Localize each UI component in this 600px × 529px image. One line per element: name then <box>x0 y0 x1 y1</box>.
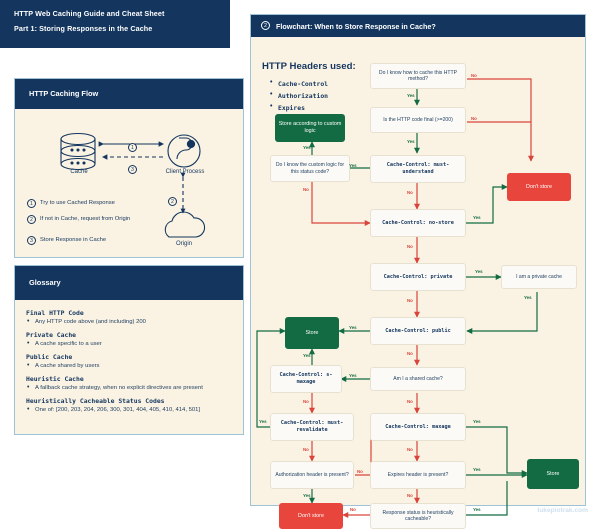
node-am-i-private-cache[interactable]: I am a private cache <box>501 265 577 289</box>
http-caching-flow-card: HTTP Caching Flow <box>14 78 244 258</box>
caching-flow-diagram: Cache Client Process Origin 1 3 2 1 Try … <box>15 109 243 257</box>
edge-label-yes: Yes <box>259 419 267 424</box>
glossary-def: Any HTTP code above (and including) 200 <box>26 319 232 325</box>
glossary-term: Heuristic Cache <box>26 375 232 383</box>
node-public-directive[interactable]: Cache-Control: public <box>370 317 466 345</box>
edge-label-yes: Yes <box>475 269 483 274</box>
glossary-header: Glossary <box>15 266 243 300</box>
edge-label-no: No <box>407 493 413 498</box>
node-must-understand[interactable]: Cache-Control: must-understand <box>370 155 466 183</box>
flowchart-heading: Flowchart: When to Store Response in Cac… <box>276 22 436 31</box>
edge-label-no: No <box>407 190 413 195</box>
legend-num-2: 2 <box>27 215 36 224</box>
node-authorization-header[interactable]: Authorization header is present? <box>270 461 354 489</box>
flow-marker-1: 1 <box>128 136 137 154</box>
edge-label-yes: Yes <box>303 145 311 150</box>
edge-label-yes: Yes <box>473 467 481 472</box>
flowchart-body: HTTP Headers used: Cache-Control Authori… <box>251 37 585 505</box>
node-dont-store-bottom[interactable]: Don't store <box>279 503 343 529</box>
edge-label-yes: Yes <box>473 507 481 512</box>
node-must-revalidate[interactable]: Cache-Control: must-revalidate <box>270 413 354 441</box>
edge-label-yes: Yes <box>349 325 357 330</box>
glossary-heading: Glossary <box>29 278 61 287</box>
glossary-card: Glossary Final HTTP Code Any HTTP code a… <box>14 265 244 435</box>
glossary-def: A cache shared by users <box>26 363 232 369</box>
title-line-1: HTTP Web Caching Guide and Cheat Sheet <box>14 9 165 18</box>
edge-label-no: No <box>407 447 413 452</box>
edge-label-no: No <box>407 399 413 404</box>
edge-label-no: No <box>407 244 413 249</box>
edge-label-yes: Yes <box>349 163 357 168</box>
edge-label-no: No <box>350 507 356 512</box>
glossary-term: Heuristically Cacheable Status Codes <box>26 397 232 405</box>
glossary-term: Final HTTP Code <box>26 309 232 317</box>
client-process-icon <box>168 135 200 167</box>
legend-num-1: 1 <box>27 199 36 208</box>
glossary-body: Final HTTP Code Any HTTP code above (and… <box>15 300 243 419</box>
site-credit: lukepiotrak.com <box>537 507 588 514</box>
caching-flow-header: HTTP Caching Flow <box>15 79 243 109</box>
cheatsheet-page: HTTP Web Caching Guide and Cheat Sheet P… <box>0 0 600 520</box>
node-expires-header[interactable]: Expires header is present? <box>370 461 466 489</box>
legend-text-1: Try to use Cached Response <box>40 200 170 207</box>
edge-label-no: No <box>303 187 309 192</box>
title-line-2: Part 1: Storing Responses in the Cache <box>14 24 152 33</box>
node-store-main[interactable]: Store <box>285 317 339 349</box>
edge-label-no: No <box>407 351 413 356</box>
flowchart-badge: 2 <box>261 21 270 30</box>
edge-label-yes: Yes <box>407 139 415 144</box>
edge-label-yes: Yes <box>349 373 357 378</box>
cache-label: Cache <box>59 169 99 175</box>
flowchart-header: 2 Flowchart: When to Store Response in C… <box>251 15 585 37</box>
legend-num-3: 3 <box>27 236 36 245</box>
node-dont-store-top[interactable]: Don't store <box>507 173 571 201</box>
edge-label-no: No <box>407 298 413 303</box>
database-icon <box>61 134 95 170</box>
caching-flow-heading: HTTP Caching Flow <box>29 89 98 98</box>
edge-label-no: No <box>471 73 477 78</box>
flow-marker-3: 3 <box>128 158 137 176</box>
glossary-def: One of: [200, 203, 204, 206, 300, 301, 4… <box>26 407 232 413</box>
node-am-i-shared-cache[interactable]: Am I a shared cache? <box>370 367 466 391</box>
edge-label-no: No <box>303 399 309 404</box>
edge-label-yes: Yes <box>524 295 532 300</box>
glossary-term: Public Cache <box>26 353 232 361</box>
edge-label-yes: Yes <box>473 419 481 424</box>
edge-label-no: No <box>303 447 309 452</box>
node-no-store-directive[interactable]: Cache-Control: no-store <box>370 209 466 237</box>
node-maxage[interactable]: Cache-Control: maxage <box>370 413 466 441</box>
node-method-known[interactable]: Do I know how to cache this HTTP method? <box>370 63 466 89</box>
node-heuristically-cacheable[interactable]: Response status is heuristically cacheab… <box>370 503 466 529</box>
edge-label-yes: Yes <box>407 93 415 98</box>
edge-label-no: No <box>471 116 477 121</box>
node-s-maxage[interactable]: Cache-Control: s-maxage <box>270 365 342 393</box>
client-label: Client Process <box>157 169 213 175</box>
edge-label-no: No <box>357 469 363 474</box>
node-code-final[interactable]: Is the HTTP code final (>=200) <box>370 107 466 133</box>
title-card: HTTP Web Caching Guide and Cheat Sheet P… <box>0 0 230 48</box>
node-private-directive[interactable]: Cache-Control: private <box>370 263 466 291</box>
edge-label-yes: Yes <box>303 353 311 358</box>
glossary-def: A cache specific to a user <box>26 341 232 347</box>
flowchart-card: 2 Flowchart: When to Store Response in C… <box>250 14 586 506</box>
glossary-def: A fallback cache strategy, when no expli… <box>26 385 232 391</box>
legend-text-2: If not in Cache, request from Origin <box>40 216 170 223</box>
edge-label-yes: Yes <box>303 493 311 498</box>
legend-text-3: Store Response in Cache <box>40 237 170 244</box>
node-store-custom-logic[interactable]: Store according to custom logic <box>275 114 345 142</box>
edge-label-yes: Yes <box>473 215 481 220</box>
node-store-right[interactable]: Store <box>527 459 579 489</box>
glossary-term: Private Cache <box>26 331 232 339</box>
cloud-icon <box>165 212 204 237</box>
node-custom-logic[interactable]: Do I know the custom logic for this stat… <box>270 155 350 182</box>
